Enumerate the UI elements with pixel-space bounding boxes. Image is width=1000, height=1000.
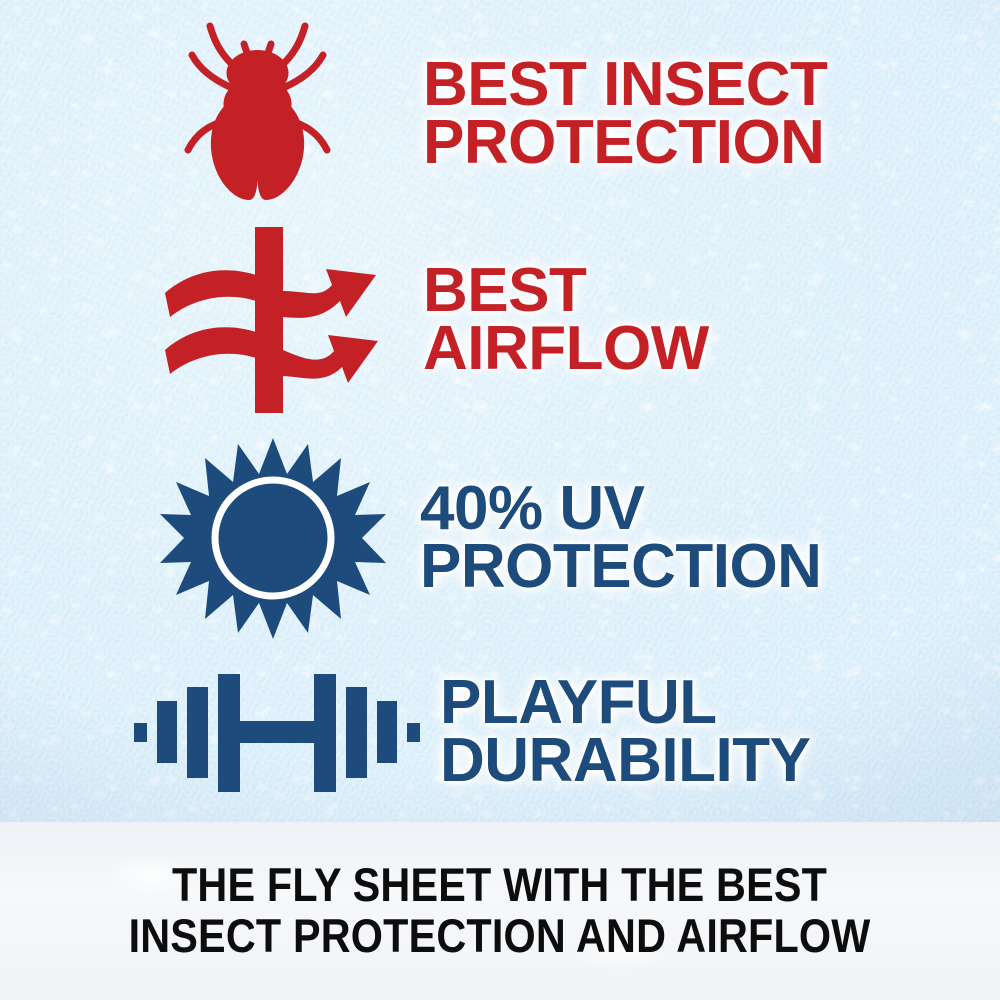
- feature-label-insect-protection: BEST INSECT PROTECTION: [423, 56, 827, 171]
- sun-uv-icon: [158, 436, 388, 641]
- caption-text: THE FLY SHEET WITH THE BEST INSECT PROTE…: [129, 860, 871, 962]
- caption-band: THE FLY SHEET WITH THE BEST INSECT PROTE…: [0, 822, 1000, 1000]
- feature-label-uv-protection: 40% UV PROTECTION: [420, 480, 821, 595]
- dumbbell-durability-icon: [132, 657, 422, 807]
- feature-label-airflow: BEST AIRFLOW: [423, 262, 709, 377]
- feature-item-uv-protection: 40% UV PROTECTION: [158, 432, 948, 644]
- feature-label-durability: PLAYFUL DURABILITY: [440, 674, 810, 789]
- feature-item-airflow: BEST AIRFLOW: [160, 222, 950, 418]
- feature-item-durability: PLAYFUL DURABILITY: [132, 648, 952, 816]
- feature-item-insect-protection: BEST INSECT PROTECTION: [170, 14, 960, 214]
- airflow-through-barrier-icon: [160, 225, 385, 415]
- fly-insect-icon: [170, 22, 345, 207]
- product-feature-infographic: BEST INSECT PROTECTION BEST AIRFLOW: [0, 0, 1000, 1000]
- feature-list: BEST INSECT PROTECTION BEST AIRFLOW: [0, 0, 1000, 822]
